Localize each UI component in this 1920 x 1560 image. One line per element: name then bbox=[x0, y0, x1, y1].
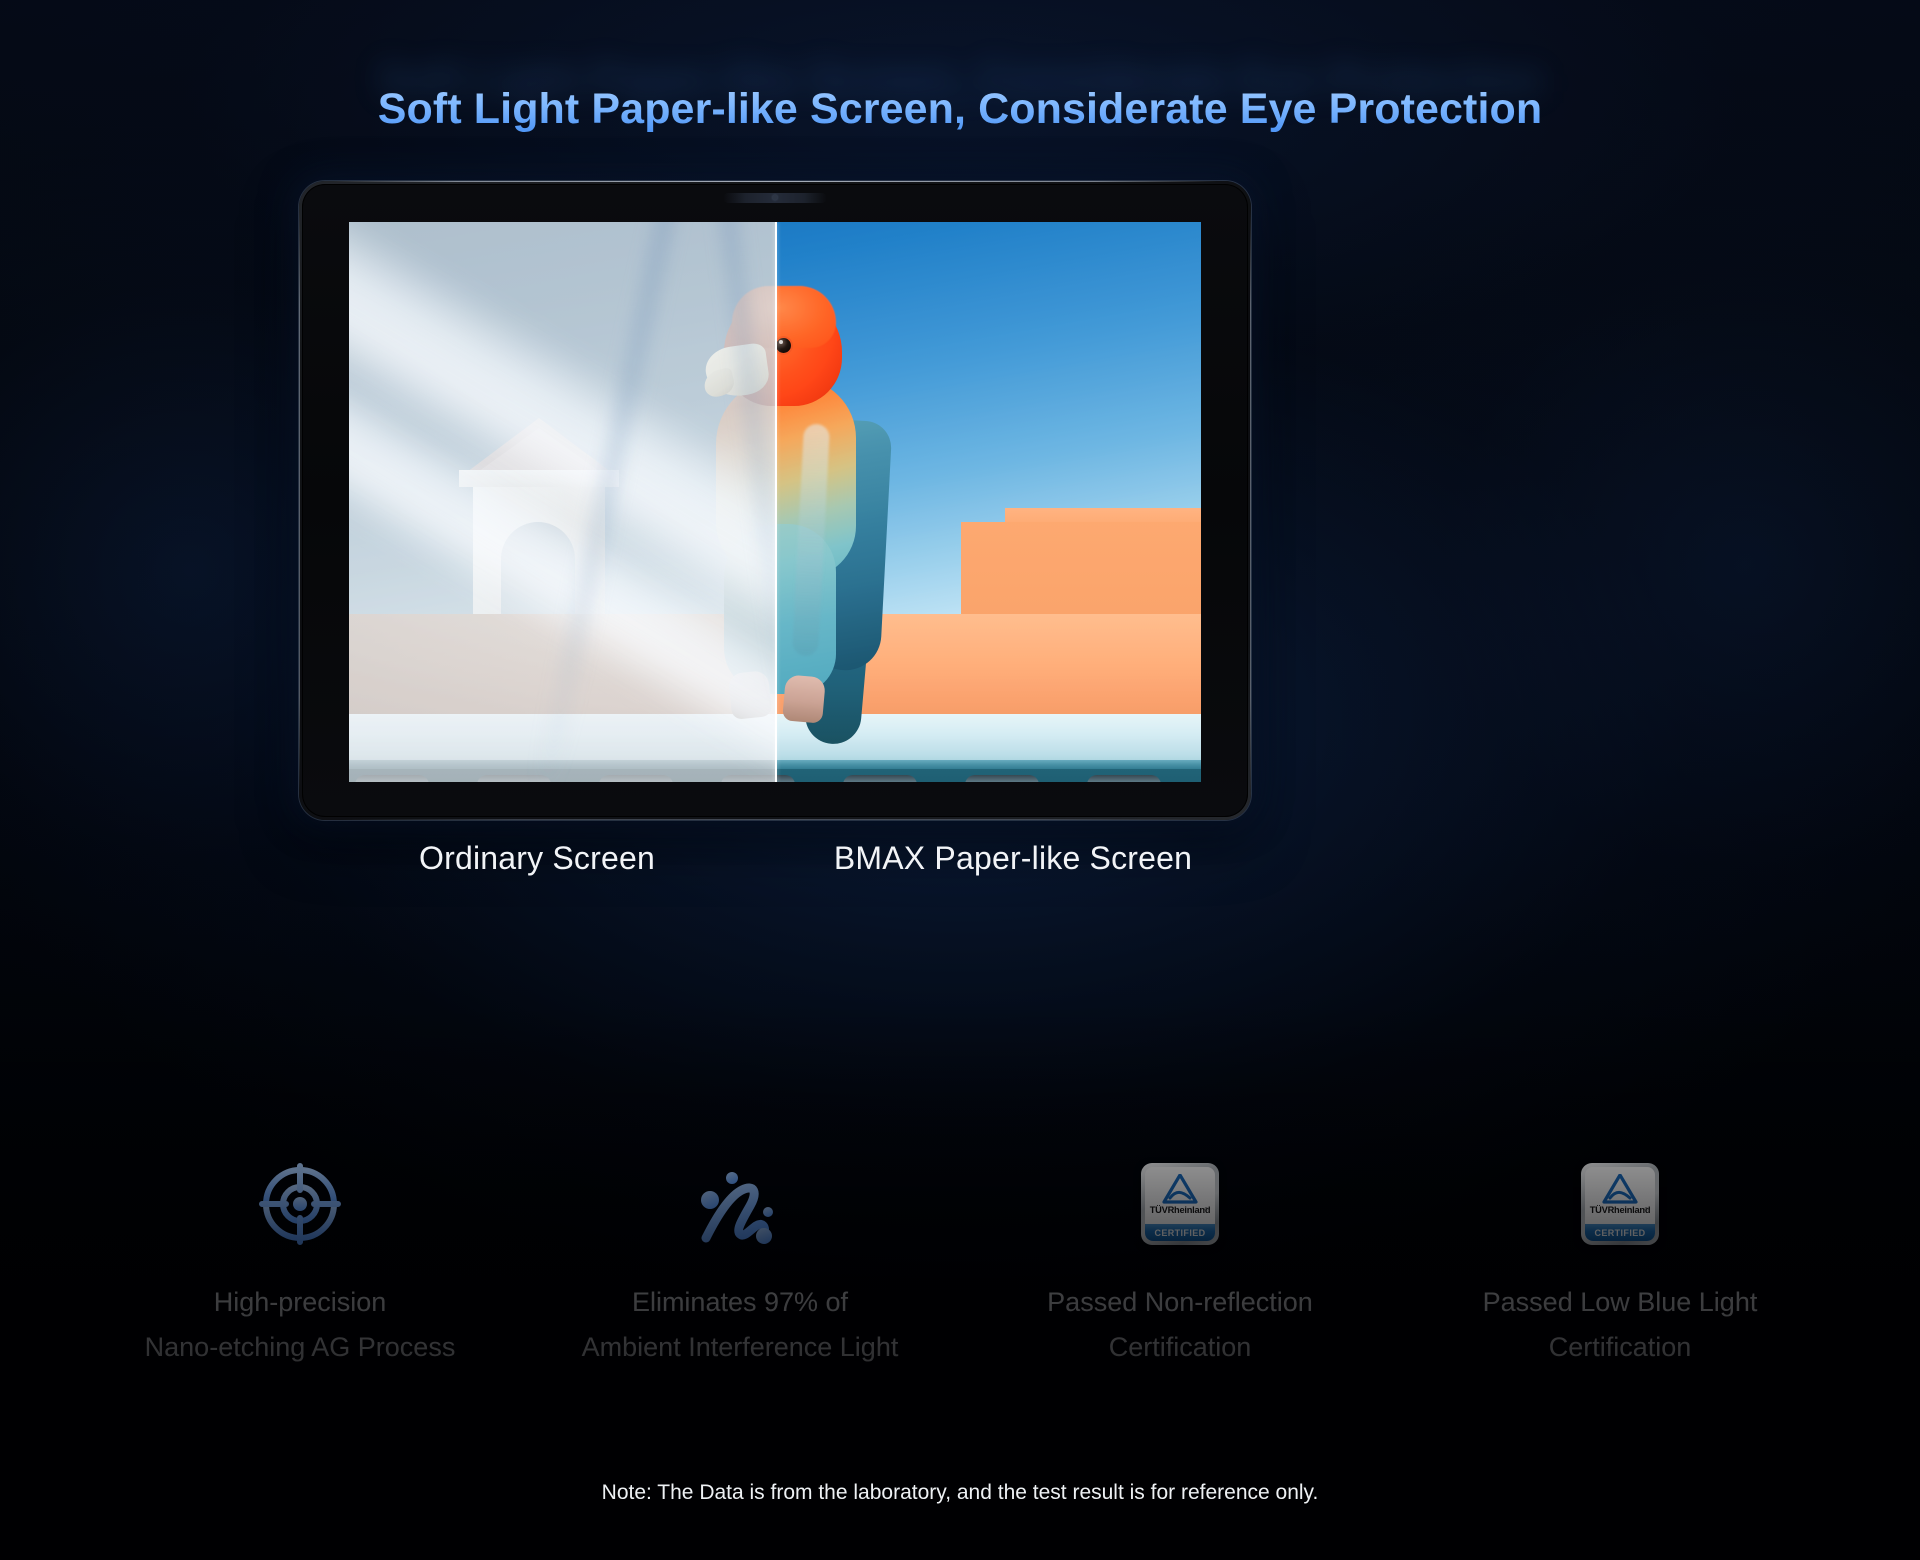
comparison-labels: Ordinary Screen BMAX Paper-like Screen bbox=[299, 840, 1251, 877]
marketing-slide: Soft Light Paper-like Screen, Considerat… bbox=[0, 0, 1920, 1560]
lovebird bbox=[775, 274, 890, 754]
ledge-lip bbox=[775, 760, 1201, 769]
bmax-screen-label: BMAX Paper-like Screen bbox=[775, 840, 1251, 877]
bmax-screen-half bbox=[775, 222, 1201, 782]
background-glow-right bbox=[1270, 90, 1920, 1040]
bird-eye-glint bbox=[779, 340, 783, 344]
tablet-edge-highlight-right bbox=[1250, 211, 1251, 790]
tablet-edge-highlight-bottom bbox=[339, 819, 1211, 820]
comparison-divider bbox=[775, 222, 777, 782]
ledge-lip bbox=[349, 760, 775, 769]
cupola-slab bbox=[459, 470, 619, 487]
bird-belly bbox=[724, 524, 775, 694]
baluster bbox=[965, 775, 1039, 782]
bird-crown bbox=[732, 286, 775, 348]
scene-right bbox=[775, 222, 1201, 782]
tablet-edge-highlight-left bbox=[299, 211, 300, 790]
baluster bbox=[721, 775, 775, 782]
tablet-edge-highlight-top bbox=[333, 181, 1217, 182]
ordinary-screen-label: Ordinary Screen bbox=[299, 840, 775, 877]
footnote: Note: The Data is from the laboratory, a… bbox=[0, 1481, 1920, 1505]
front-camera-lens-icon bbox=[773, 195, 778, 200]
orange-wall-shadow bbox=[349, 614, 724, 726]
baluster-row bbox=[349, 769, 775, 782]
baluster-row bbox=[775, 769, 1201, 782]
cupola-arch bbox=[501, 522, 575, 623]
baluster bbox=[599, 775, 673, 782]
baluster bbox=[355, 775, 429, 782]
page-title: Soft Light Paper-like Screen, Considerat… bbox=[0, 85, 1920, 134]
baluster bbox=[775, 775, 795, 782]
lovebird bbox=[680, 274, 775, 754]
baluster bbox=[1087, 775, 1161, 782]
tablet-device bbox=[299, 181, 1251, 820]
cupola-roof-inner bbox=[475, 428, 603, 474]
background-bottom-fade bbox=[0, 1000, 1920, 1560]
tablet-screen bbox=[349, 222, 1201, 782]
ordinary-screen-half bbox=[349, 222, 775, 782]
bird-foot-left bbox=[728, 670, 773, 720]
scene-left bbox=[349, 222, 775, 782]
baluster bbox=[477, 775, 551, 782]
baluster bbox=[843, 775, 917, 782]
bird-foot-right bbox=[782, 674, 826, 723]
